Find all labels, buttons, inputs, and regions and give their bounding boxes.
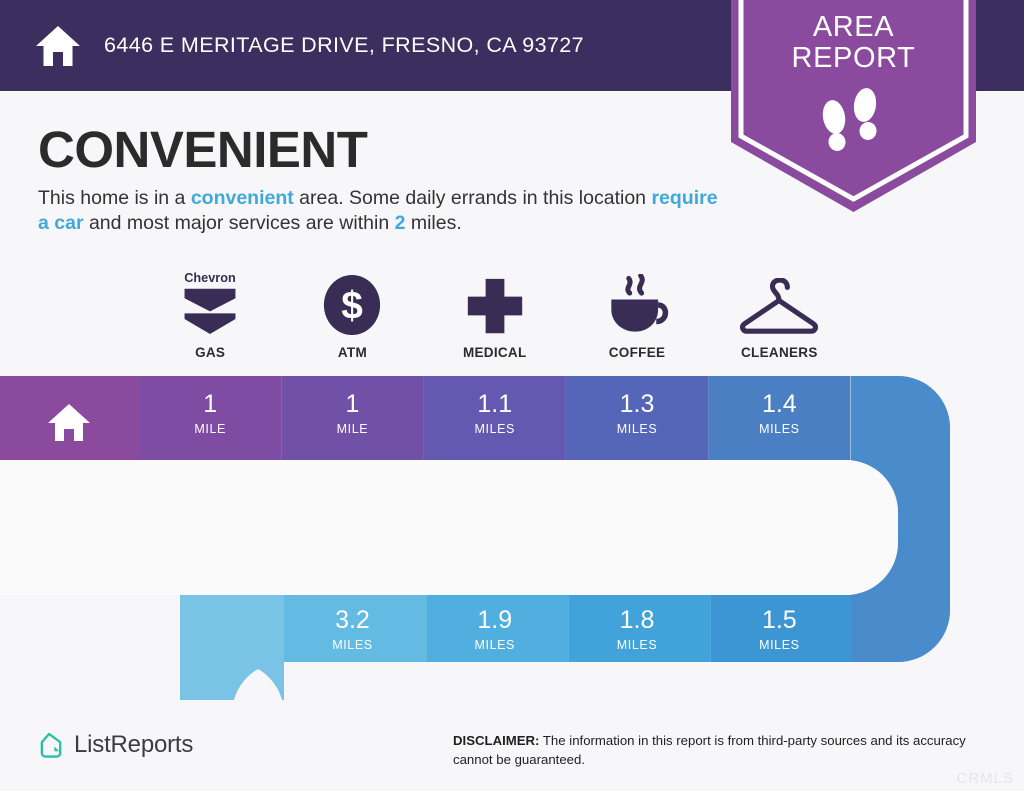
property-address: 6446 E MERITAGE DRIVE, FRESNO, CA 93727 <box>104 33 584 58</box>
bar-value-cleaners: 1.4 MILES <box>708 392 850 436</box>
category-label: GAS <box>195 345 225 360</box>
banner-line-1: AREA <box>731 12 976 43</box>
bar-number: 1.9 <box>424 608 566 633</box>
category-gas: Chevron GAS <box>139 270 281 360</box>
bar-value-gas: 1 MILE <box>139 392 281 436</box>
bar-number: 1.4 <box>708 392 850 417</box>
bar-number: 1.3 <box>566 392 708 417</box>
hanger-icon <box>739 270 819 336</box>
icon-row-top: Chevron GAS $ ATM MEDICAL <box>139 270 992 360</box>
bar-unit: MILES <box>708 638 850 652</box>
listreports-logo[interactable]: ListReports <box>38 731 193 759</box>
listreports-house-icon <box>38 732 65 759</box>
banner-line-2: REPORT <box>731 43 976 74</box>
bar-value-medical: 1.1 MILES <box>424 392 566 436</box>
description-text: miles. <box>405 212 461 234</box>
bar-number: 1.1 <box>424 392 566 417</box>
dollar-circle-icon: $ <box>321 270 383 336</box>
category-medical: MEDICAL <box>424 270 566 360</box>
bar-unit: MILES <box>281 638 423 652</box>
listreports-wordmark: ListReports <box>74 731 193 759</box>
category-cleaners: CLEANERS <box>708 270 850 360</box>
bar-number: 3.2 <box>281 608 423 633</box>
bar-value-movie-theater: 3.2 MILES <box>281 608 423 652</box>
bar-number: 1.5 <box>708 608 850 633</box>
bar-unit: MILES <box>708 422 850 436</box>
bar-unit: MILES <box>424 638 566 652</box>
bar-unit: MILE <box>281 422 423 436</box>
bar-unit: MILES <box>566 638 708 652</box>
crmls-watermark: CRMLS <box>956 770 1014 787</box>
svg-text:Chevron: Chevron <box>184 270 236 285</box>
home-icon <box>47 402 91 442</box>
category-coffee: COFFEE <box>566 270 708 360</box>
area-report-label: AREA REPORT <box>731 12 976 75</box>
home-icon <box>34 22 82 70</box>
description-highlight: 2 <box>395 212 406 234</box>
chevron-gas-logo: Chevron <box>177 270 243 336</box>
page-description: This home is in a convenient area. Some … <box>38 186 728 235</box>
category-atm: $ ATM <box>281 270 423 360</box>
bar-number: 1 <box>139 392 281 417</box>
page-title: CONVENIENT <box>38 120 367 179</box>
bar-unit: MILE <box>139 422 281 436</box>
category-label: COFFEE <box>609 345 666 360</box>
description-text: and most major services are within <box>84 212 395 234</box>
category-label: ATM <box>338 345 367 360</box>
bar-number: 1 <box>281 392 423 417</box>
svg-text:$: $ <box>342 285 364 328</box>
category-label: MEDICAL <box>463 345 527 360</box>
bar-value-gym: 1.5 MILES <box>708 608 850 652</box>
bar-value-atm: 1 MILE <box>281 392 423 436</box>
disclaimer-label: DISCLAIMER: <box>453 733 539 748</box>
disclaimer: DISCLAIMER: The information in this repo… <box>453 732 993 769</box>
category-label: CLEANERS <box>741 345 818 360</box>
medical-cross-icon <box>465 270 525 336</box>
bar-unit: MILES <box>566 422 708 436</box>
description-highlight: convenient <box>191 187 294 209</box>
bar-unit: MILES <box>424 422 566 436</box>
coffee-cup-icon <box>604 270 670 336</box>
area-report-banner: AREA REPORT <box>731 0 976 212</box>
bar-value-groceries: 1.8 MILES <box>566 608 708 652</box>
description-text: area. Some daily errands in this locatio… <box>294 187 652 209</box>
distance-values: 1 MILE 1 MILE 1.1 MILES 1.3 MILES 1.4 MI… <box>0 370 1024 700</box>
bar-value-pharmacy: 1.9 MILES <box>424 608 566 652</box>
bar-number: 1.8 <box>566 608 708 633</box>
bar-value-coffee: 1.3 MILES <box>566 392 708 436</box>
description-text: This home is in a <box>38 187 191 209</box>
